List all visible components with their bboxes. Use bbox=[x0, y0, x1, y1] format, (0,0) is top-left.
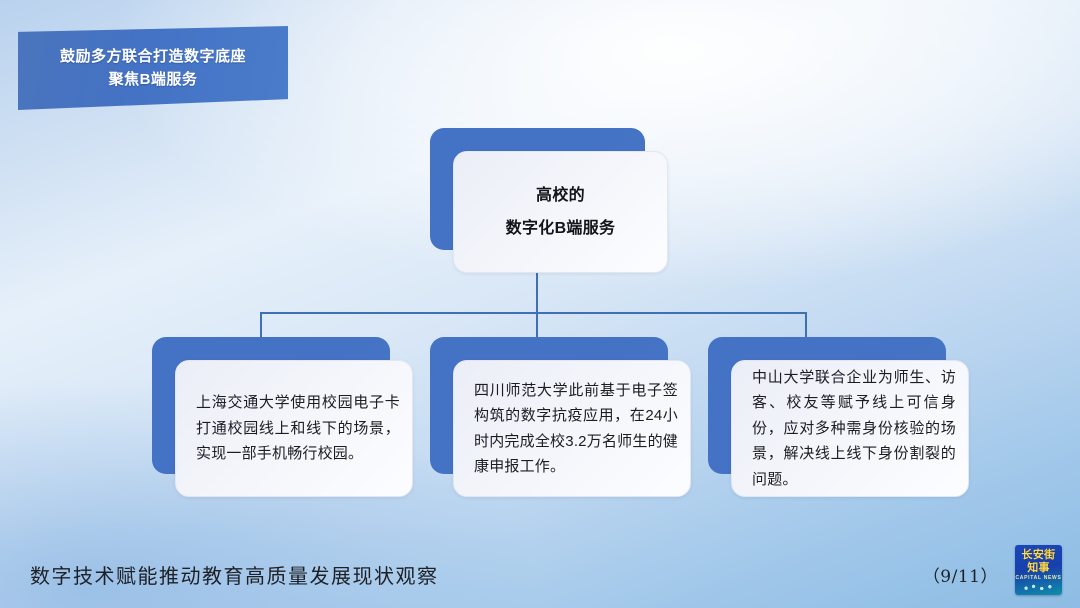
title-line-1: 鼓励多方联合打造数字底座 bbox=[60, 48, 246, 67]
connector-horizontal-bar bbox=[260, 312, 806, 314]
diagram-leaf-node-2: 四川师范大学此前基于电子签构筑的数字抗疫应用，在24小时内完成全校3.2万名师生… bbox=[430, 337, 668, 474]
title-line-2: 聚焦B端服务 bbox=[109, 71, 198, 90]
page-number: （9/11） bbox=[923, 562, 998, 587]
diagram-leaf-node-3: 中山大学联合企业为师生、访客、校友等赋予线上可信身份，应对多种需身份核验的场景，… bbox=[708, 337, 946, 474]
leaf-node-1-panel: 上海交通大学使用校园电子卡打通校园线上和线下的场景，实现一部手机畅行校园。 bbox=[175, 360, 413, 497]
footer-title: 数字技术赋能推动教育高质量发展现状观察 bbox=[30, 560, 439, 589]
root-node-line-1: 高校的 bbox=[536, 186, 585, 205]
leaf-node-2-panel: 四川师范大学此前基于电子签构筑的数字抗疫应用，在24小时内完成全校3.2万名师生… bbox=[453, 360, 691, 497]
title-banner: 鼓励多方联合打造数字底座 聚焦B端服务 bbox=[18, 26, 288, 110]
leaf-node-3-text: 中山大学联合企业为师生、访客、校友等赋予线上可信身份，应对多种需身份核验的场景，… bbox=[752, 365, 956, 493]
diagram-root-node: 高校的 数字化B端服务 bbox=[430, 128, 645, 250]
leaf-node-2-text: 四川师范大学此前基于电子签构筑的数字抗疫应用，在24小时内完成全校3.2万名师生… bbox=[474, 378, 678, 480]
connector-drop-node-3 bbox=[805, 312, 807, 338]
connector-drop-node-1 bbox=[260, 312, 262, 338]
brand-logo-en: CAPITAL NEWS bbox=[1016, 576, 1062, 582]
brand-logo-cn-line-1: 长安街 bbox=[1022, 550, 1056, 562]
root-node-line-2: 数字化B端服务 bbox=[506, 219, 616, 238]
connector-drop-node-2 bbox=[536, 312, 538, 338]
title-banner-text: 鼓励多方联合打造数字底座 聚焦B端服务 bbox=[18, 26, 288, 110]
diagram-leaf-node-1: 上海交通大学使用校园电子卡打通校园线上和线下的场景，实现一部手机畅行校园。 bbox=[152, 337, 390, 474]
brand-logo-cn-line-2: 知事 bbox=[1027, 563, 1050, 575]
root-node-panel: 高校的 数字化B端服务 bbox=[453, 151, 668, 273]
brand-logo: 长安街 知事 CAPITAL NEWS bbox=[1015, 545, 1062, 595]
leaf-node-3-panel: 中山大学联合企业为师生、访客、校友等赋予线上可信身份，应对多种需身份核验的场景，… bbox=[731, 360, 969, 497]
brand-logo-wave-icon bbox=[1022, 584, 1056, 590]
slide-canvas: 鼓励多方联合打造数字底座 聚焦B端服务 高校的 数字化B端服务 上海交通大学使用… bbox=[0, 0, 1080, 608]
leaf-node-1-text: 上海交通大学使用校园电子卡打通校园线上和线下的场景，实现一部手机畅行校园。 bbox=[196, 390, 400, 467]
